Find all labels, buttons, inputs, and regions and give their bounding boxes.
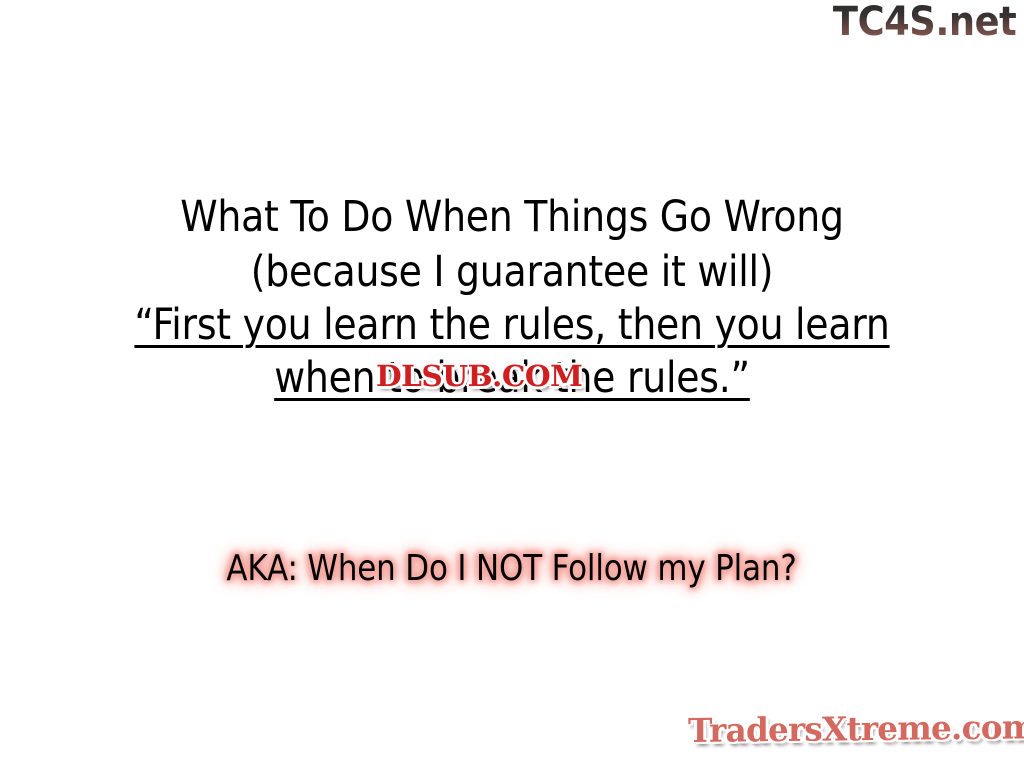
dlsub-watermark: DLSUB.COM	[376, 362, 582, 391]
heading-line-2: (because I guarantee it will)	[61, 251, 962, 294]
quote-line-1-text: “First you learn the rules, then you lea…	[134, 300, 889, 350]
tradersxtreme-watermark: TradersXtreme.com	[688, 710, 1024, 747]
subheading-line: AKA: When Do I NOT Follow my Plan?	[0, 548, 1024, 589]
heading-line-1: What To Do When Things Go Wrong	[61, 196, 962, 239]
slide-canvas: TC4S.net What To Do When Things Go Wrong…	[0, 0, 1024, 768]
quote-line-1: “First you learn the rules, then you lea…	[61, 304, 962, 347]
tc4s-watermark: TC4S.net	[833, 2, 1016, 42]
subheading-text: AKA: When Do I NOT Follow my Plan?	[227, 548, 797, 589]
